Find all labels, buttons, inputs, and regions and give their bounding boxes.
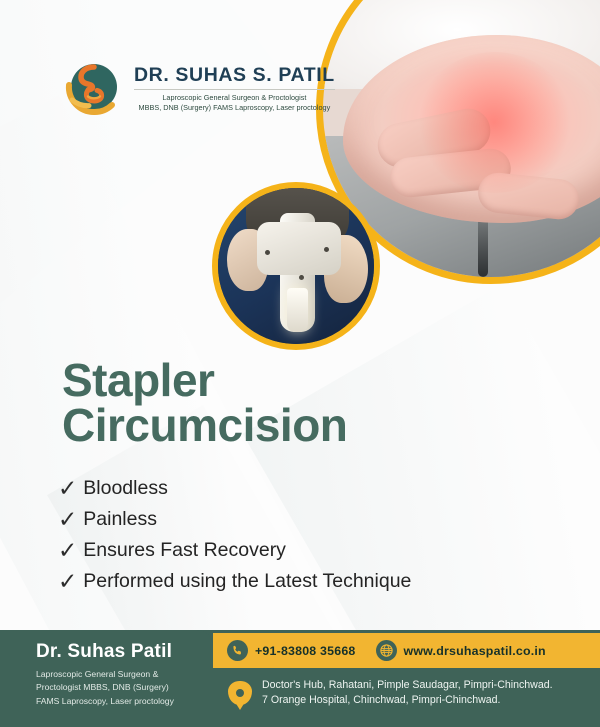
stomach-digestive-logo-icon: [63, 58, 125, 120]
phone-icon: [227, 640, 248, 661]
contact-bar: +91-83808 35668 www.drsuhaspatil.co.in: [213, 633, 600, 668]
poster-root: DR. SUHAS S. PATIL Laproscopic General S…: [0, 0, 600, 727]
benefits-list: ✓ Bloodless ✓ Painless ✓ Ensures Fast Re…: [58, 477, 528, 601]
benefit-label: Bloodless: [83, 478, 168, 499]
benefit-label: Performed using the Latest Technique: [83, 571, 411, 592]
brand-tagline-2: MBBS, DNB (Surgery) FAMS Laproscopy, Las…: [134, 103, 335, 113]
globe-icon: [376, 640, 397, 661]
footer-credentials: Laproscopic General Surgeon & Proctologi…: [36, 668, 208, 708]
benefit-label: Painless: [83, 509, 157, 530]
address-line-1: Doctor's Hub, Rahatani, Pimple Saudagar,…: [262, 678, 553, 693]
brand-logo-text: DR. SUHAS S. PATIL Laproscopic General S…: [134, 65, 335, 112]
brand-name: DR. SUHAS S. PATIL: [134, 65, 335, 85]
brand-divider: [134, 89, 335, 90]
address-lines: Doctor's Hub, Rahatani, Pimple Saudagar,…: [262, 678, 553, 709]
address-line-2: 7 Orange Hospital, Chinchwad, Pimpri-Chi…: [262, 693, 553, 708]
headline-line-2: Circumcision: [62, 403, 482, 448]
footer-doctor-name: Dr. Suhas Patil: [36, 641, 172, 663]
check-icon: ✓: [58, 570, 77, 593]
headline: Stapler Circumcision: [62, 358, 482, 448]
check-icon: ✓: [58, 477, 77, 500]
check-icon: ✓: [58, 508, 77, 531]
footer-credentials-line-2: Proctologist MBBS, DNB (Surgery): [36, 681, 208, 694]
phone-contact[interactable]: +91-83808 35668: [227, 640, 356, 661]
phone-number: +91-83808 35668: [255, 644, 356, 658]
inset-stapler-tip: [287, 288, 309, 332]
address-block: Doctor's Hub, Rahatani, Pimple Saudagar,…: [228, 678, 553, 709]
website-contact[interactable]: www.drsuhaspatil.co.in: [376, 640, 546, 661]
list-item: ✓ Bloodless: [58, 477, 528, 500]
website-url: www.drsuhaspatil.co.in: [404, 644, 546, 658]
footer-credentials-line-3: FAMS Laproscopy, Laser proctology: [36, 695, 208, 708]
footer: +91-83808 35668 www.drsuhaspatil.co.in D…: [0, 630, 600, 727]
footer-doctor-panel: Dr. Suhas Patil Laproscopic General Surg…: [0, 630, 213, 727]
brand-logo: DR. SUHAS S. PATIL Laproscopic General S…: [63, 58, 335, 120]
footer-credentials-line-1: Laproscopic General Surgeon &: [36, 668, 208, 681]
benefit-label: Ensures Fast Recovery: [83, 540, 286, 561]
inset-photo-circle: [212, 182, 380, 350]
list-item: ✓ Ensures Fast Recovery: [58, 539, 528, 562]
list-item: ✓ Performed using the Latest Technique: [58, 570, 528, 593]
location-pin-icon: [228, 681, 252, 705]
photo-pain-highlight: [417, 52, 572, 193]
check-icon: ✓: [58, 539, 77, 562]
list-item: ✓ Painless: [58, 508, 528, 531]
brand-tagline-1: Laproscopic General Surgeon & Proctologi…: [134, 93, 335, 103]
